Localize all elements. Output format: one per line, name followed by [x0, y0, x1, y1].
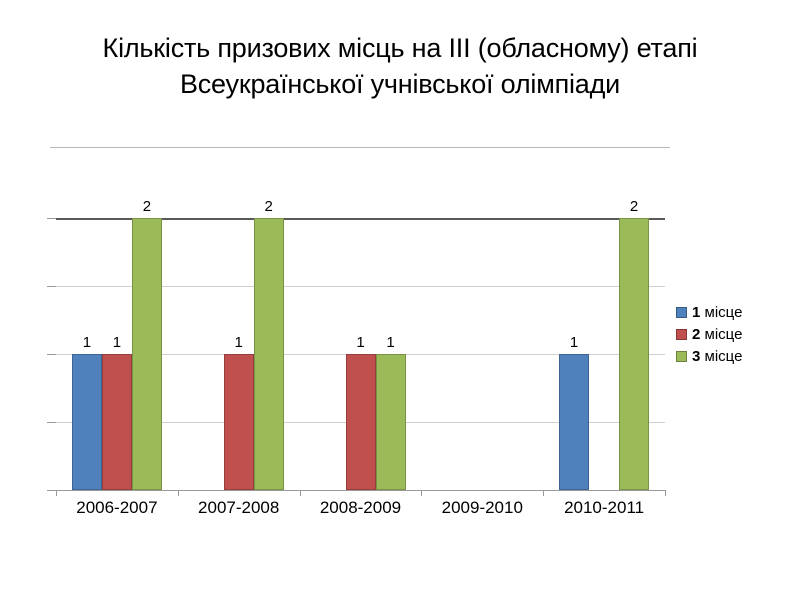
legend-swatch-icon	[676, 307, 687, 318]
category-tick	[665, 490, 666, 496]
category-axis-label: 2009-2010	[421, 498, 543, 518]
category-tick	[56, 490, 57, 496]
chart-legend: 1 місце2 місце3 місце	[676, 302, 788, 368]
category-axis-label: 2008-2009	[300, 498, 422, 518]
bar	[72, 354, 102, 490]
legend-item[interactable]: 1 місце	[676, 302, 788, 323]
legend-item-label: 2 місце	[692, 326, 742, 343]
bar-data-label: 1	[376, 335, 406, 350]
legend-swatch-icon	[676, 329, 687, 340]
bar	[376, 354, 406, 490]
legend-swatch-icon	[676, 351, 687, 362]
bar-data-label: 1	[224, 335, 254, 350]
legend-item[interactable]: 3 місце	[676, 346, 788, 367]
bar-data-label: 1	[72, 335, 102, 350]
chart: 112121112 2006-20072007-20082008-2009200…	[0, 180, 800, 540]
bar	[254, 218, 284, 490]
y-axis-tick	[47, 286, 56, 287]
legend-item-label: 3 місце	[692, 348, 742, 365]
gridline	[56, 490, 665, 491]
category-axis-label: 2006-2007	[56, 498, 178, 518]
bar-data-label: 2	[254, 199, 284, 214]
bar	[102, 354, 132, 490]
plot-area	[56, 218, 665, 490]
bar-data-label: 1	[102, 335, 132, 350]
y-axis-tick	[47, 490, 56, 491]
bar	[224, 354, 254, 490]
category-tick	[543, 490, 544, 496]
category-tick	[300, 490, 301, 496]
bar	[619, 218, 649, 490]
category-axis-label: 2010-2011	[543, 498, 665, 518]
title-divider	[50, 147, 670, 148]
bar-data-label: 1	[346, 335, 376, 350]
category-axis-label: 2007-2008	[178, 498, 300, 518]
y-axis-tick	[47, 218, 56, 219]
y-axis-tick	[47, 354, 56, 355]
category-tick	[178, 490, 179, 496]
bar-data-label: 1	[559, 335, 589, 350]
legend-item[interactable]: 2 місце	[676, 324, 788, 345]
legend-item-label: 1 місце	[692, 304, 742, 321]
bar-data-label: 2	[619, 199, 649, 214]
page-title: Кількість призових місць на III (обласно…	[40, 30, 760, 102]
bar-data-label: 2	[132, 199, 162, 214]
bar	[559, 354, 589, 490]
bar	[132, 218, 162, 490]
y-axis-tick	[47, 422, 56, 423]
category-tick	[421, 490, 422, 496]
bar	[346, 354, 376, 490]
